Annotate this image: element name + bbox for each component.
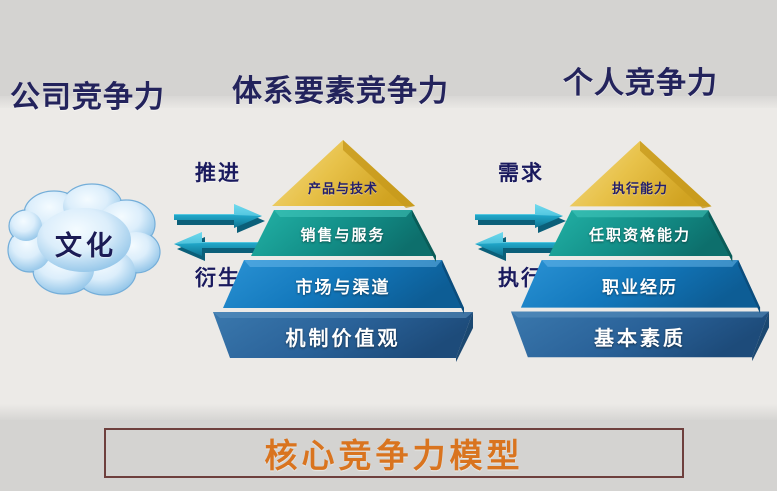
pyramid-shape: [506, 136, 774, 368]
person-pyramid: 执行能力 任职资格能力 职业经历 基本素质: [506, 136, 774, 368]
pyramid-level-1: [272, 140, 415, 208]
pyramid-level-3: [521, 260, 760, 314]
pyramid-level-2: [251, 210, 436, 262]
pyramid-level-4: [511, 312, 769, 362]
heading-system-element-competitiveness: 体系要素竞争力: [232, 66, 449, 110]
model-title-text: 核心竞争力模型: [265, 429, 524, 477]
pyramid-level-1: [570, 141, 712, 208]
heading-company-competitiveness: 公司竞争力: [10, 72, 165, 116]
pyramid-level-3: [223, 260, 464, 314]
pyramid-level-4: [213, 312, 473, 362]
slide-canvas: 公司竞争力 体系要素竞争力 个人竞争力: [0, 0, 777, 491]
heading-personal-competitiveness: 个人竞争力: [563, 58, 718, 102]
pyramid-shape: [208, 136, 478, 368]
background-fade-bottom: [0, 404, 777, 420]
pyramid-level-2: [549, 210, 733, 262]
model-title-box: 核心竞争力模型: [104, 428, 684, 478]
culture-cloud-label: 文化: [6, 224, 166, 263]
system-pyramid: 产品与技术 销售与服务 市场与渠道 机制价值观: [208, 136, 478, 368]
culture-cloud: 文化: [6, 178, 166, 306]
